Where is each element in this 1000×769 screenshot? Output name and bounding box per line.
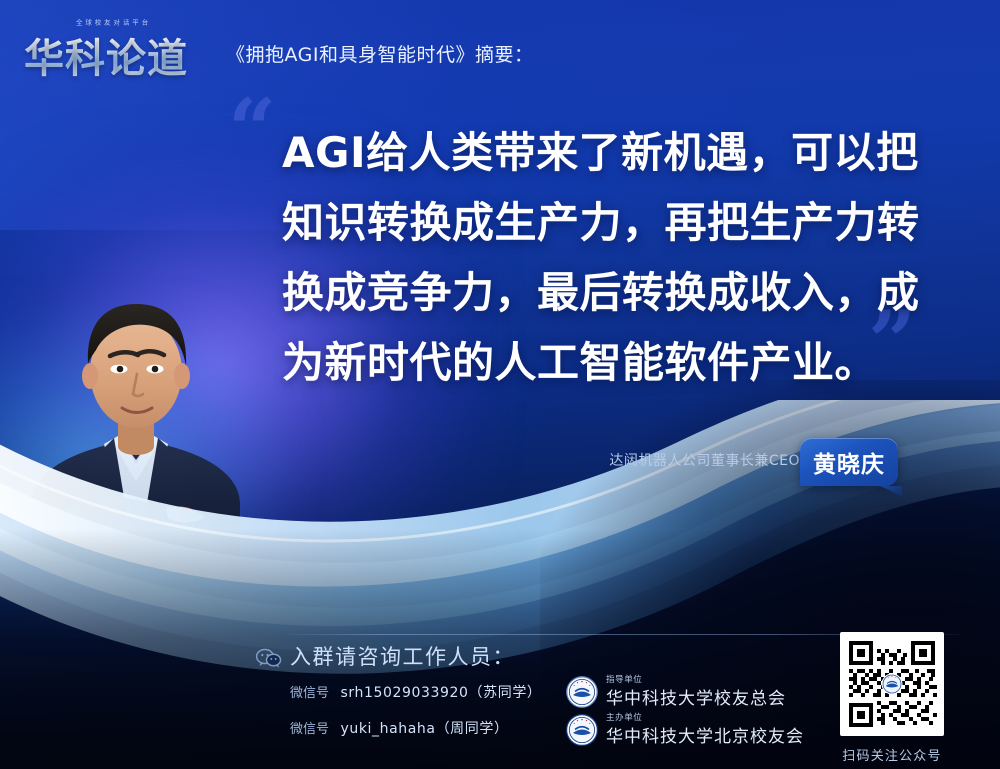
poster-header: 全球校友对话平台 华科论道 《拥抱AGI和具身智能时代》摘要： bbox=[0, 0, 1000, 92]
organization-name: 华中科技大学校友总会 bbox=[606, 684, 786, 709]
qr-code-icon[interactable] bbox=[840, 632, 944, 736]
quote-text-block: AGI给人类带来了新机遇，可以把 知识转换成生产力，再把生产力转 换成竞争力，最… bbox=[282, 118, 942, 398]
quote-open-mark: “ bbox=[228, 88, 276, 172]
contact-value: yuki_hahaha（周同学） bbox=[340, 721, 508, 737]
speaker-role: 达闼机器人公司董事长兼CEO bbox=[609, 450, 800, 470]
speaker-name-badge: 黄晓庆 bbox=[800, 438, 898, 486]
quote-line: 换成竞争力，最后转换成收入，成 bbox=[282, 258, 942, 328]
poster-canvas: 全球校友对话平台 华科论道 《拥抱AGI和具身智能时代》摘要： “ ” AGI给… bbox=[0, 0, 1000, 769]
qr-code-block[interactable]: 扫码关注公众号 bbox=[840, 632, 944, 764]
join-group-title: 入群请咨询工作人员： bbox=[290, 641, 515, 671]
contact-value: srh15029033920（苏同学） bbox=[340, 685, 541, 701]
hust-seal-icon bbox=[566, 676, 598, 708]
contact-label: 微信号 bbox=[290, 722, 329, 737]
page-title: 《拥抱AGI和具身智能时代》摘要： bbox=[226, 40, 534, 67]
quote-line: AGI给人类带来了新机遇，可以把 bbox=[282, 118, 942, 188]
contact-label: 微信号 bbox=[290, 686, 329, 701]
attribution-bar: 达闼机器人公司董事长兼CEO 黄晓庆 bbox=[0, 438, 1000, 486]
hust-seal-icon bbox=[566, 714, 598, 746]
brand-logo: 全球校友对话平台 华科论道 bbox=[24, 16, 220, 72]
qr-center-logo bbox=[881, 673, 903, 695]
brand-wordmark: 华科论道 bbox=[24, 26, 188, 84]
wechat-icon bbox=[256, 648, 282, 668]
contact-row: 微信号 srh15029033920（苏同学） bbox=[290, 682, 542, 702]
qr-caption: 扫码关注公众号 bbox=[840, 745, 944, 764]
speaker-name: 黄晓庆 bbox=[813, 445, 885, 479]
organization-name: 华中科技大学北京校友会 bbox=[606, 722, 804, 747]
quote-line: 为新时代的人工智能软件产业。 bbox=[282, 328, 942, 398]
contact-row: 微信号 yuki_hahaha（周同学） bbox=[290, 718, 509, 738]
quote-line: 知识转换成生产力，再把生产力转 bbox=[282, 188, 942, 258]
